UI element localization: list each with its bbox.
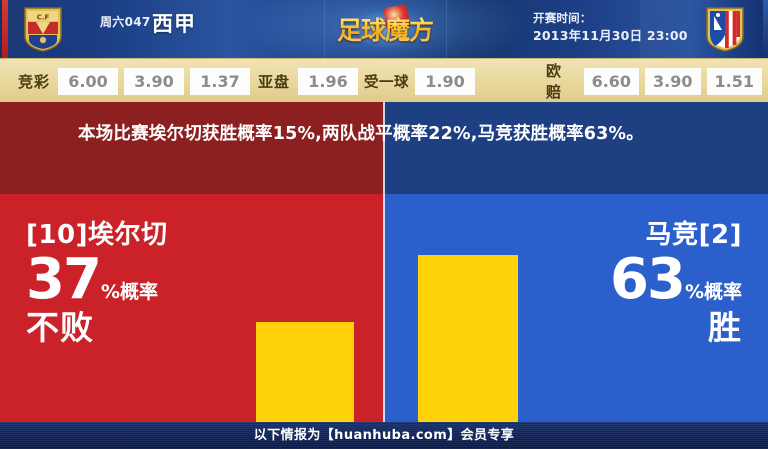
logo-text: 足球魔方 — [325, 11, 445, 47]
probability-panel: 本场比赛埃尔切获胜概率15%,两队战平概率22%,马竞获胜概率63%。 [10]… — [0, 102, 768, 422]
odds-group-yapan: 亚盘 1.96 受一球 1.90 — [258, 59, 481, 103]
header-left-red-stripe — [2, 0, 8, 58]
home-team-block: [10]埃尔切 37 %概率 不败 — [26, 220, 167, 346]
site-logo[interactable]: 足球魔方 — [325, 0, 445, 58]
odds-yapan-handicap: 受一球 — [364, 71, 409, 92]
odds-jingcai-home[interactable]: 6.00 — [58, 68, 118, 95]
odds-label-jingcai: 竞彩 — [18, 71, 50, 92]
kickoff-info: 开赛时间： 2013年11月30日 23:00 — [533, 10, 688, 44]
footer-bar: 以下情报为【huanhuba.com】会员专享 — [0, 422, 768, 449]
away-probability-row: 63 %概率 — [610, 252, 742, 308]
panel-divider — [383, 102, 385, 422]
odds-group-oupei: 欧赔 6.60 3.90 1.51 — [546, 59, 768, 103]
football-probability-infographic: C.F 周六047 西甲 足球魔方 开赛时间： 2013年11月30日 23:0… — [0, 0, 768, 449]
odds-label-yapan: 亚盘 — [258, 71, 290, 92]
elche-crest-icon: C.F — [22, 6, 64, 52]
summary-banner-text: 本场比赛埃尔切获胜概率15%,两队战平概率22%,马竞获胜概率63%。 — [78, 120, 718, 149]
home-probability-value: 37 — [26, 252, 100, 308]
svg-text:C.F: C.F — [37, 14, 50, 22]
kickoff-label: 开赛时间： — [533, 10, 688, 27]
odds-jingcai-away[interactable]: 1.37 — [190, 68, 250, 95]
home-probability-suffix: %概率 — [101, 283, 158, 302]
kickoff-time: 2013年11月30日 23:00 — [533, 27, 688, 44]
atletico-madrid-crest-icon — [704, 6, 746, 52]
away-team-name: 马竞[2] — [610, 220, 742, 250]
home-probability-row: 37 %概率 — [26, 252, 167, 308]
odds-bar: 竞彩 6.00 3.90 1.37 亚盘 1.96 受一球 1.90 欧赔 6.… — [0, 58, 768, 104]
away-verdict: 胜 — [610, 310, 742, 346]
away-team-block: 马竞[2] 63 %概率 胜 — [610, 220, 742, 346]
odds-yapan-away[interactable]: 1.90 — [415, 68, 475, 95]
odds-yapan-home[interactable]: 1.96 — [298, 68, 358, 95]
home-team-name: [10]埃尔切 — [26, 220, 167, 250]
odds-oupei-home[interactable]: 6.60 — [584, 68, 639, 95]
odds-oupei-away[interactable]: 1.51 — [707, 68, 762, 95]
away-probability-bar — [418, 255, 518, 422]
odds-group-jingcai: 竞彩 6.00 3.90 1.37 — [18, 59, 256, 103]
footer-text: 以下情报为【huanhuba.com】会员专享 — [0, 422, 768, 449]
league-name: 西甲 — [152, 8, 196, 38]
header-bar: C.F 周六047 西甲 足球魔方 开赛时间： 2013年11月30日 23:0… — [0, 0, 768, 58]
odds-label-oupei: 欧赔 — [546, 60, 576, 102]
odds-oupei-draw[interactable]: 3.90 — [645, 68, 700, 95]
away-probability-suffix: %概率 — [685, 283, 742, 302]
header-right-edge — [763, 0, 768, 58]
match-round-label: 周六047 — [100, 13, 151, 30]
away-probability-value: 63 — [610, 252, 684, 308]
odds-jingcai-draw[interactable]: 3.90 — [124, 68, 184, 95]
home-probability-bar — [256, 322, 354, 422]
home-verdict: 不败 — [26, 310, 167, 346]
